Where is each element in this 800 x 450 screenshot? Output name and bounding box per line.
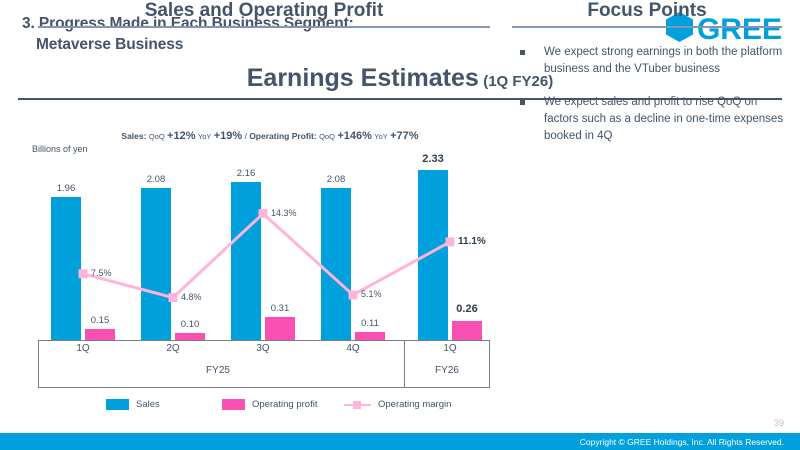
legend-item: Operating margin [344,399,451,410]
stats-profit-yoy-label: YoY [374,132,388,141]
focus-point-text: We expect sales and profit to rise QoQ o… [544,94,787,144]
summary-stats: Sales: QoQ +12% YoY +19% / Operating Pro… [60,130,480,142]
axis-year-separator [404,340,405,388]
focus-point-item: We expect sales and profit to rise QoQ o… [512,94,787,144]
line-label-operating-margin: 7.5% [91,268,112,278]
copyright-text: Copyright © GREE Holdings, Inc. All Righ… [580,437,784,447]
line-marker [79,269,88,278]
axis-quarter-label: 1Q [420,343,480,354]
focus-points-list: We expect strong earnings in both the pl… [512,44,787,161]
focus-point-text: We expect strong earnings in both the pl… [544,44,787,77]
legend-swatch [106,399,129,410]
stats-profit-yoy-value: +77% [390,130,418,142]
line-label-operating-margin: 5.1% [361,289,382,299]
stats-sales-qoq-value: +12% [167,130,195,142]
chart-plot-area: 1.960.152.080.102.160.312.080.112.330.26… [38,150,490,340]
legend-label: Operating margin [378,399,451,410]
line-label-operating-margin: 11.1% [458,236,486,247]
stats-profit-qoq-value: +146% [337,130,372,142]
line-marker [169,293,178,302]
legend-label: Operating profit [252,399,317,410]
right-panel-divider [512,26,782,28]
legend-item: Operating profit [222,399,317,410]
legend-label: Sales [136,399,160,410]
axis-quarter-label: 3Q [233,343,293,354]
line-label-operating-margin: 14.3% [271,208,297,218]
stats-sales-qoq-label: QoQ [149,132,165,141]
operating-margin-line [38,150,490,340]
sales-profit-chart: 1.960.152.080.102.160.312.080.112.330.26… [38,150,490,340]
axis-quarter-label: 2Q [143,343,203,354]
bullet-icon [520,100,525,105]
legend-line-swatch [344,399,371,410]
bullet-icon [520,50,525,55]
axis-quarter-label: 1Q [53,343,113,354]
stats-sales-label: Sales: [121,131,146,141]
stats-profit-qoq-label: QoQ [319,132,335,141]
line-label-operating-margin: 4.8% [181,292,202,302]
left-panel-heading: Sales and Operating Profit [38,0,490,22]
main-heading-text: Earnings Estimates [247,64,479,92]
focus-point-item: We expect strong earnings in both the pl… [512,44,787,77]
line-marker [446,237,455,246]
page-number: 39 [774,418,784,428]
left-panel-divider [38,26,490,28]
axis-quarter-label: 4Q [323,343,383,354]
line-marker [349,290,358,299]
legend-item: Sales [106,399,160,410]
stats-separator: / [245,132,247,141]
axis-fiscal-year-label: FY25 [183,365,253,376]
stats-sales-yoy-value: +19% [214,130,242,142]
chart-legend: SalesOperating profitOperating margin [38,394,490,414]
stats-profit-label: Operating Profit: [249,131,317,141]
chart-axis-table: 1Q2Q3Q4Q1QFY25FY26 [38,340,490,388]
right-panel-heading: Focus Points [512,0,782,22]
axis-fiscal-year-label: FY26 [412,365,482,376]
legend-swatch [222,399,245,410]
line-marker [259,209,268,218]
page-title-line: Metaverse Business [22,35,492,56]
stats-sales-yoy-label: YoY [198,132,212,141]
slide: 3. Progress Made in Each Business Segmen… [0,0,800,450]
